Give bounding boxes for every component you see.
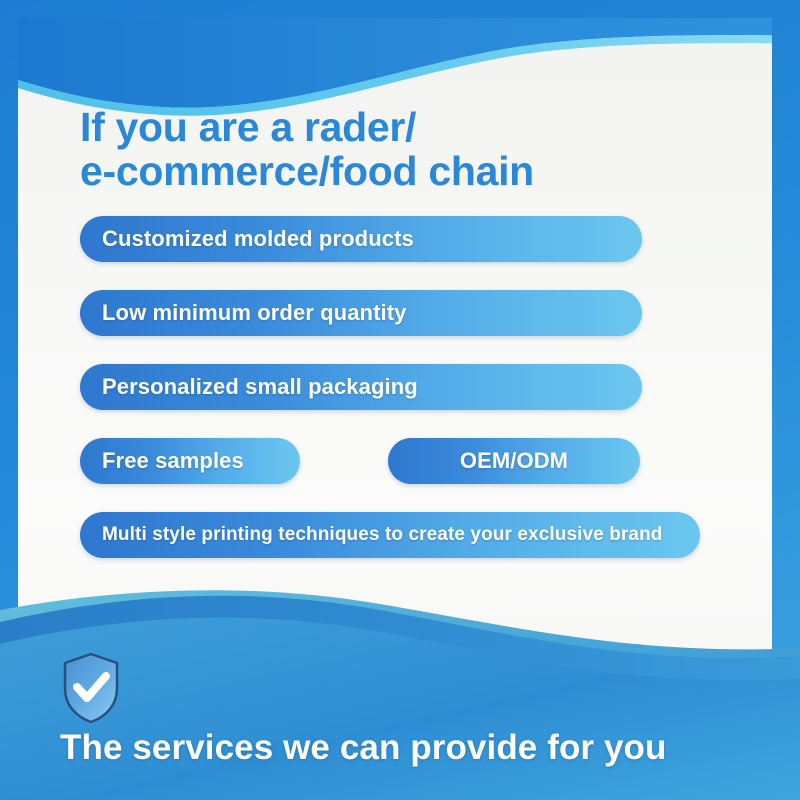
- footer-heading: The services we can provide for you: [60, 728, 667, 768]
- promo-poster: If you are a rader/ e-commerce/food chai…: [0, 0, 800, 800]
- feature-pill-multi-style-printing[interactable]: Multi style printing techniques to creat…: [80, 512, 700, 558]
- poster-card: If you are a rader/ e-commerce/food chai…: [18, 18, 772, 734]
- pill-row: Free samples OEM/ODM: [80, 438, 720, 484]
- feature-pill-label: Customized molded products: [102, 226, 414, 252]
- pill-row: Personalized small packaging: [80, 364, 720, 410]
- feature-pill-low-minimum-order-quantity[interactable]: Low minimum order quantity: [80, 290, 642, 336]
- pill-row: Customized molded products: [80, 216, 720, 262]
- feature-pill-list: Customized molded products Low minimum o…: [80, 216, 720, 586]
- shield-check-icon: [62, 652, 120, 724]
- pill-row: Low minimum order quantity: [80, 290, 720, 336]
- feature-pill-oem-odm[interactable]: OEM/ODM: [388, 438, 640, 484]
- page-title: If you are a rader/ e-commerce/food chai…: [80, 106, 740, 194]
- feature-pill-personalized-small-packaging[interactable]: Personalized small packaging: [80, 364, 642, 410]
- feature-pill-label: Personalized small packaging: [102, 374, 418, 400]
- pill-row: Multi style printing techniques to creat…: [80, 512, 720, 558]
- feature-pill-label: Low minimum order quantity: [102, 300, 407, 326]
- feature-pill-label: OEM/ODM: [460, 448, 568, 474]
- feature-pill-label: Free samples: [102, 448, 244, 474]
- feature-pill-customized-molded-products[interactable]: Customized molded products: [80, 216, 642, 262]
- feature-pill-label: Multi style printing techniques to creat…: [102, 524, 663, 546]
- feature-pill-free-samples[interactable]: Free samples: [80, 438, 300, 484]
